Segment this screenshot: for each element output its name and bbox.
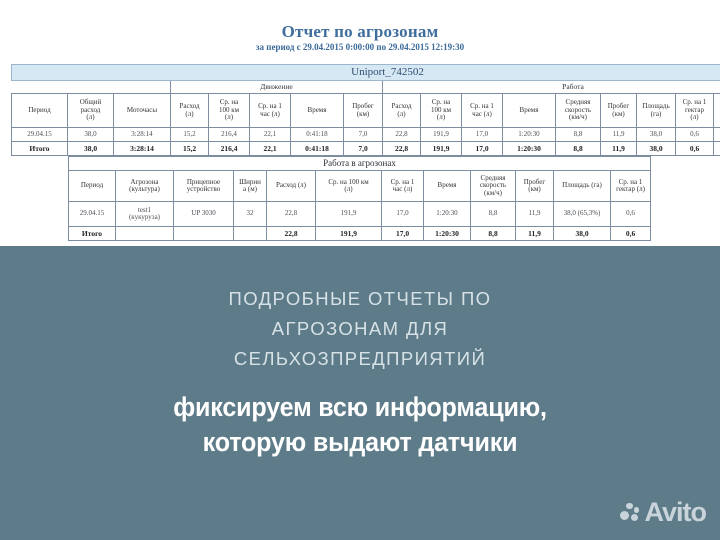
zone-total-perha: 0,6 [611, 227, 651, 241]
table1-group-work: Работа [383, 81, 720, 94]
table1-col-work-avghour: Ср. на 1 час (л) [462, 94, 503, 128]
total-work-avghour: 17,0 [462, 142, 503, 156]
total-work-area: 38,0 [637, 142, 676, 156]
table1-col-work-fuel: Расход (л) [383, 94, 421, 128]
cell-move-distance: 7,0 [344, 128, 383, 142]
banner-subtitle-line-1: ПОДРОБНЫЕ ОТЧЕТЫ ПО [0, 284, 720, 314]
table1-group-spacer-period [12, 81, 68, 94]
zone-total-time: 1:20:30 [424, 227, 471, 241]
cell-work-distance: 11,9 [601, 128, 637, 142]
banner-subtitle: ПОДРОБНЫЕ ОТЧЕТЫ ПО АГРОЗОНАМ ДЛЯ СЕЛЬХО… [0, 284, 720, 374]
zone-total-implement [174, 227, 234, 241]
banner-subtitle-line-2: АГРОЗОНАМ ДЛЯ [0, 314, 720, 344]
table1-col-work-area: Площадь (га) [637, 94, 676, 128]
zone-total-avg100: 191,9 [316, 227, 382, 241]
total-work-avgspeed: 8,8 [556, 142, 601, 156]
zone-total-width [234, 227, 267, 241]
cell-work-avgspeed: 8,8 [556, 128, 601, 142]
table1-col-move-avghour: Ср. на 1 час (л) [250, 94, 291, 128]
table2-col-width: Ширин а (м) [234, 171, 267, 202]
table1-col-total-fuel: Общий расход (л) [68, 94, 114, 128]
table1-band-row: Uniport_742502 [12, 65, 720, 81]
cell-zone-perha: 0,6 [611, 202, 651, 227]
avito-watermark: Avito [620, 497, 707, 528]
table2-col-perha: Ср. на 1 гектар (л) [611, 171, 651, 202]
table2-col-area: Площадь (га) [554, 171, 611, 202]
report-subtitle: за период с 29.04.2015 0:00:00 по 29.04.… [0, 42, 720, 52]
table1-col-work-avgspeed: Средняя скорость (км/ч) [556, 94, 601, 128]
table1-col-work-perha: Ср. на 1 гектар (л) [676, 94, 714, 128]
zone-total-distance: 11,9 [516, 227, 554, 241]
total-move-time: 0:41:18 [291, 142, 344, 156]
table1-col-move-distance: Пробег (км) [344, 94, 383, 128]
zone-total-name [116, 227, 174, 241]
table2-col-time: Время [424, 171, 471, 202]
cell-zone-avghour: 17,0 [382, 202, 424, 227]
banner-subtitle-line-3: СЕЛЬХОЗПРЕДПРИЯТИЙ [0, 344, 720, 374]
table1-col-work-distance: Пробег (км) [601, 94, 637, 128]
cell-zone-period: 29.04.15 [69, 202, 116, 227]
cell-work-perha: 0,6 [676, 128, 714, 142]
table1-header-row: Период Общий расход (л) Моточасы Расход … [12, 94, 720, 128]
cell-move-fuel: 15,2 [171, 128, 209, 142]
table1-group-spacer-total-fuel [68, 81, 114, 94]
total-total-fuel: 38,0 [68, 142, 114, 156]
zone-total-avgspeed: 8,8 [471, 227, 516, 241]
table1-group-spacer-engine-hours [114, 81, 171, 94]
banner-headline-line-1: фиксируем всю информацию, [25, 390, 695, 425]
cell-implement: UP 3030 [714, 128, 720, 142]
vehicle-summary-table: Uniport_742502 Движение Работа Период Об… [11, 64, 720, 156]
total-move-avg100: 216,4 [209, 142, 250, 156]
table1-col-move-time: Время [291, 94, 344, 128]
cell-zone-fuel: 22,8 [267, 202, 316, 227]
promo-banner: ПОДРОБНЫЕ ОТЧЕТЫ ПО АГРОЗОНАМ ДЛЯ СЕЛЬХО… [0, 246, 720, 540]
total-work-distance: 11,9 [601, 142, 637, 156]
zone-total-avghour: 17,0 [382, 227, 424, 241]
table1-col-move-avg100: Ср. на 100 км (л) [209, 94, 250, 128]
cell-period: 29.04.15 [12, 128, 68, 142]
cell-zone-implement: UP 3030 [174, 202, 234, 227]
zone-total-area: 38,0 [554, 227, 611, 241]
cell-zone-avg100: 191,9 [316, 202, 382, 227]
table1-col-move-fuel: Расход (л) [171, 94, 209, 128]
table1-group-header-row: Движение Работа [12, 81, 720, 94]
total-move-fuel: 15,2 [171, 142, 209, 156]
table1-col-implement: Прицепное устройство [714, 94, 720, 128]
total-label: Итого [12, 142, 68, 156]
report-area: Отчет по агрозонам за период с 29.04.201… [0, 0, 720, 246]
avito-wordmark: Avito [645, 497, 707, 528]
total-work-perha: 0,6 [676, 142, 714, 156]
table2-col-avg100: Ср. на 100 км (л) [316, 171, 382, 202]
cell-work-avghour: 17,0 [462, 128, 503, 142]
table2-col-fuel: Расход (л) [267, 171, 316, 202]
table2-col-distance: Пробег (км) [516, 171, 554, 202]
cell-zone-name: test1 (кукуруза) [116, 202, 174, 227]
banner-headline-line-2: которую выдают датчики [25, 425, 695, 460]
total-work-time: 1:20:30 [503, 142, 556, 156]
table2-col-zone: Агрозона (культура) [116, 171, 174, 202]
total-move-distance: 7,0 [344, 142, 383, 156]
cell-work-area: 38,0 [637, 128, 676, 142]
cell-move-avghour: 22,1 [250, 128, 291, 142]
table1-col-engine-hours: Моточасы [114, 94, 171, 128]
report-title: Отчет по агрозонам [0, 22, 720, 42]
avito-dots-icon [620, 502, 641, 523]
zone-total-label: Итого [69, 227, 116, 241]
zone-total-fuel: 22,8 [267, 227, 316, 241]
table2-col-period: Период [69, 171, 116, 202]
cell-work-avg100: 191,9 [421, 128, 462, 142]
total-move-avghour: 22,1 [250, 142, 291, 156]
cell-work-time: 1:20:30 [503, 128, 556, 142]
table2-band-row: Работа в агрозонах [69, 157, 651, 171]
table2-band-label: Работа в агрозонах [69, 157, 651, 171]
table1-total-row: Итого 38,0 3:28:14 15,2 216,4 22,1 0:41:… [12, 142, 720, 156]
table1-col-work-avg100: Ср. на 100 км (л) [421, 94, 462, 128]
cell-total-fuel: 38,0 [68, 128, 114, 142]
table-row: 29.04.15 38,0 3:28:14 15,2 216,4 22,1 0:… [12, 128, 720, 142]
table1-col-period: Период [12, 94, 68, 128]
total-work-fuel: 22,8 [383, 142, 421, 156]
cell-zone-avgspeed: 8,8 [471, 202, 516, 227]
table1-group-movement: Движение [171, 81, 383, 94]
table2-total-row: Итого 22,8 191,9 17,0 1:20:30 8,8 11,9 3… [69, 227, 651, 241]
table2-col-implement: Прицепное устройство [174, 171, 234, 202]
total-implement [714, 142, 720, 156]
cell-zone-width: 32 [234, 202, 267, 227]
cell-work-fuel: 22,8 [383, 128, 421, 142]
cell-zone-area: 38,0 (65,3%) [554, 202, 611, 227]
table2-col-avghour: Ср. на 1 час (л) [382, 171, 424, 202]
table1-col-work-time: Время [503, 94, 556, 128]
cell-move-avg100: 216,4 [209, 128, 250, 142]
total-work-avg100: 191,9 [421, 142, 462, 156]
cell-move-time: 0:41:18 [291, 128, 344, 142]
total-engine-hours: 3:28:14 [114, 142, 171, 156]
table2-col-avgspeed: Средняя скорость (км/ч) [471, 171, 516, 202]
cell-zone-time: 1:20:30 [424, 202, 471, 227]
table1-band-label: Uniport_742502 [12, 65, 720, 81]
agrozone-work-table: Работа в агрозонах Период Агрозона (куль… [68, 156, 651, 241]
cell-zone-distance: 11,9 [516, 202, 554, 227]
banner-headline: фиксируем всю информацию, которую выдают… [25, 390, 695, 459]
cell-engine-hours: 3:28:14 [114, 128, 171, 142]
table2-header-row: Период Агрозона (культура) Прицепное уст… [69, 171, 651, 202]
screenshot-root: Отчет по агрозонам за период с 29.04.201… [0, 0, 720, 540]
table-row: 29.04.15 test1 (кукуруза) UP 3030 32 22,… [69, 202, 651, 227]
